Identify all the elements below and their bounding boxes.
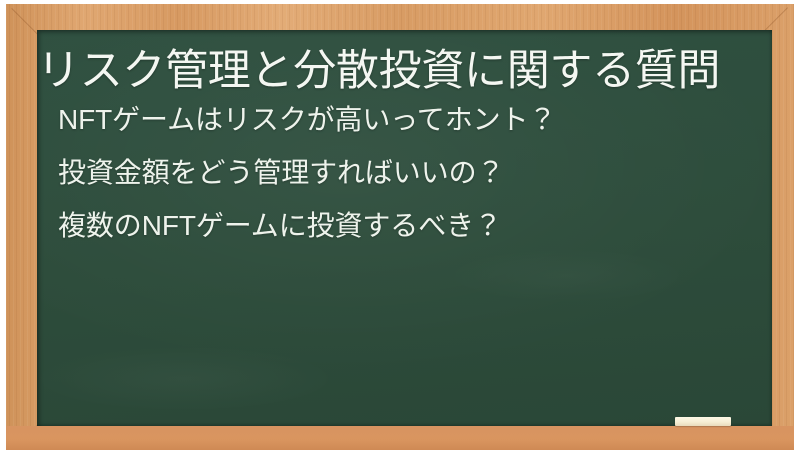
blackboard: リスク管理と分散投資に関する質問 NFTゲームはリスクが高いってホント？ 投資金… (37, 30, 772, 426)
blackboard-content: リスク管理と分散投資に関する質問 NFTゲームはリスクが高いってホント？ 投資金… (37, 30, 772, 426)
chalk-ledge (6, 426, 794, 450)
list-item: NFTゲームはリスクが高いってホント？ (58, 106, 758, 134)
list-item: 複数のNFTゲームに投資するべき？ (58, 212, 758, 240)
slide-canvas: リスク管理と分散投資に関する質問 NFTゲームはリスクが高いってホント？ 投資金… (0, 0, 800, 450)
page-title: リスク管理と分散投資に関する質問 (37, 48, 772, 95)
question-list: NFTゲームはリスクが高いってホント？ 投資金額をどう管理すればいいの？ 複数の… (58, 106, 758, 240)
chalk-stick (675, 417, 731, 426)
list-item: 投資金額をどう管理すればいいの？ (58, 159, 758, 187)
